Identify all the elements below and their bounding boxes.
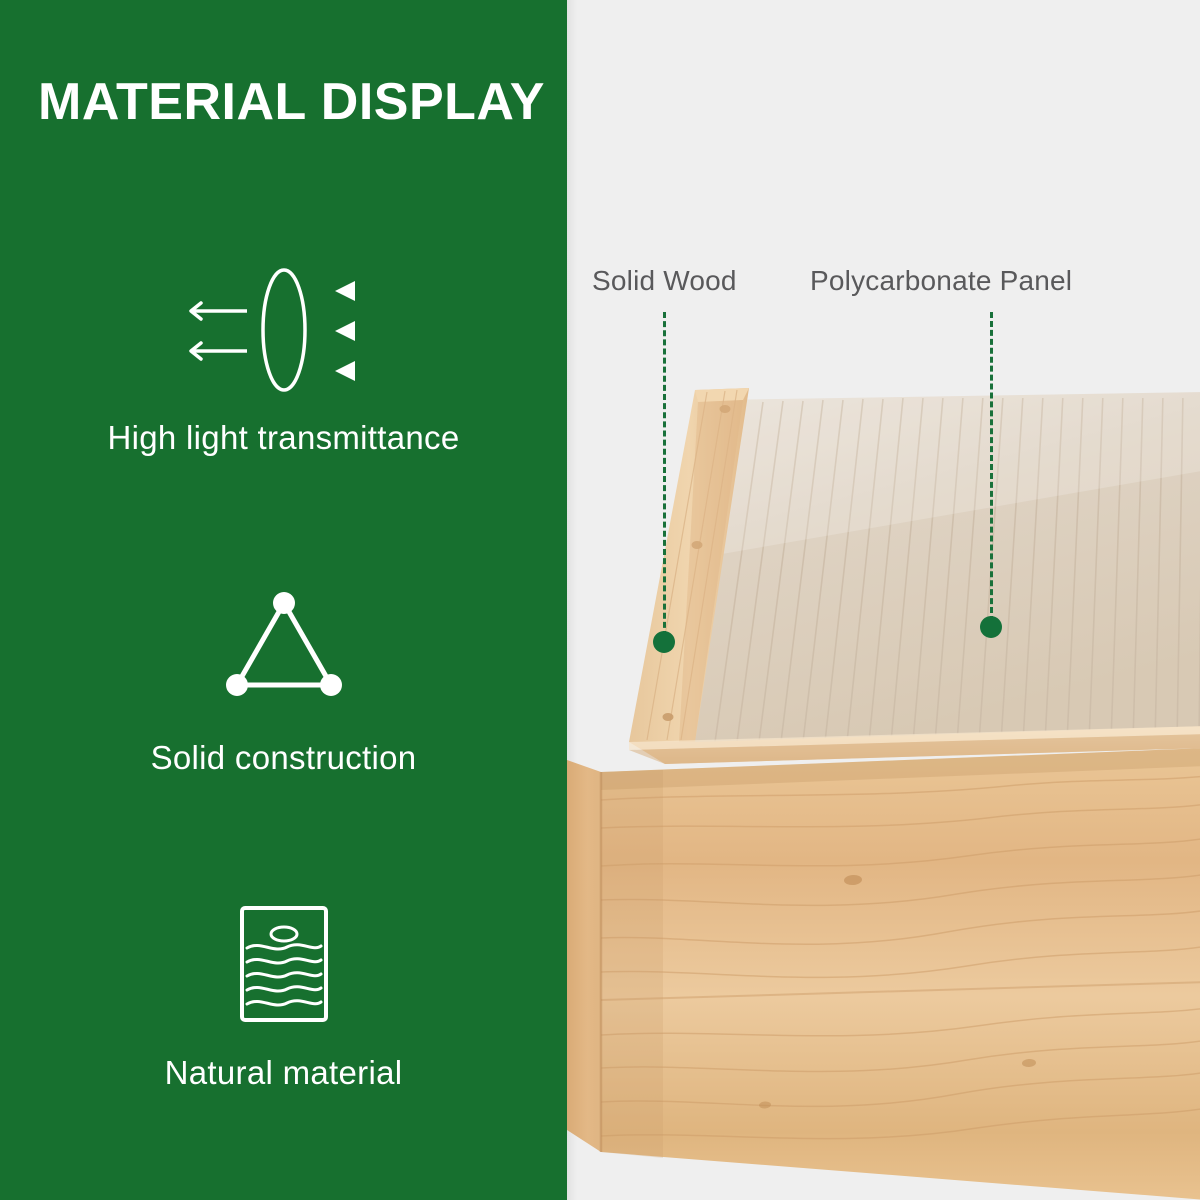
callout-leader-line-polycarbonate-panel bbox=[990, 312, 993, 622]
feature-label: Natural material bbox=[0, 1054, 567, 1092]
product-image-panel: Solid Wood Polycarbonate Panel bbox=[567, 0, 1200, 1200]
product-illustration bbox=[567, 0, 1200, 1200]
callout-leader-line-solid-wood bbox=[663, 312, 666, 637]
feature-item-natural-material: Natural material bbox=[0, 890, 567, 1092]
callout-label-polycarbonate-panel: Polycarbonate Panel bbox=[810, 265, 1072, 297]
feature-item-light-transmittance: High light transmittance bbox=[0, 255, 567, 457]
feature-label: High light transmittance bbox=[0, 419, 567, 457]
callout-label-solid-wood: Solid Wood bbox=[592, 265, 737, 297]
wood-grain-icon bbox=[0, 890, 567, 1040]
material-display-page: MATERIAL DISPLAY High light tr bbox=[0, 0, 1200, 1200]
triangle-construction-icon bbox=[0, 575, 567, 725]
page-title: MATERIAL DISPLAY bbox=[38, 72, 545, 132]
feature-item-solid-construction: Solid construction bbox=[0, 575, 567, 777]
feature-label: Solid construction bbox=[0, 739, 567, 777]
callout-dot-solid-wood bbox=[653, 631, 675, 653]
left-info-panel: MATERIAL DISPLAY High light tr bbox=[0, 0, 567, 1200]
callout-dot-polycarbonate-panel bbox=[980, 616, 1002, 638]
light-transmittance-icon bbox=[0, 255, 567, 405]
